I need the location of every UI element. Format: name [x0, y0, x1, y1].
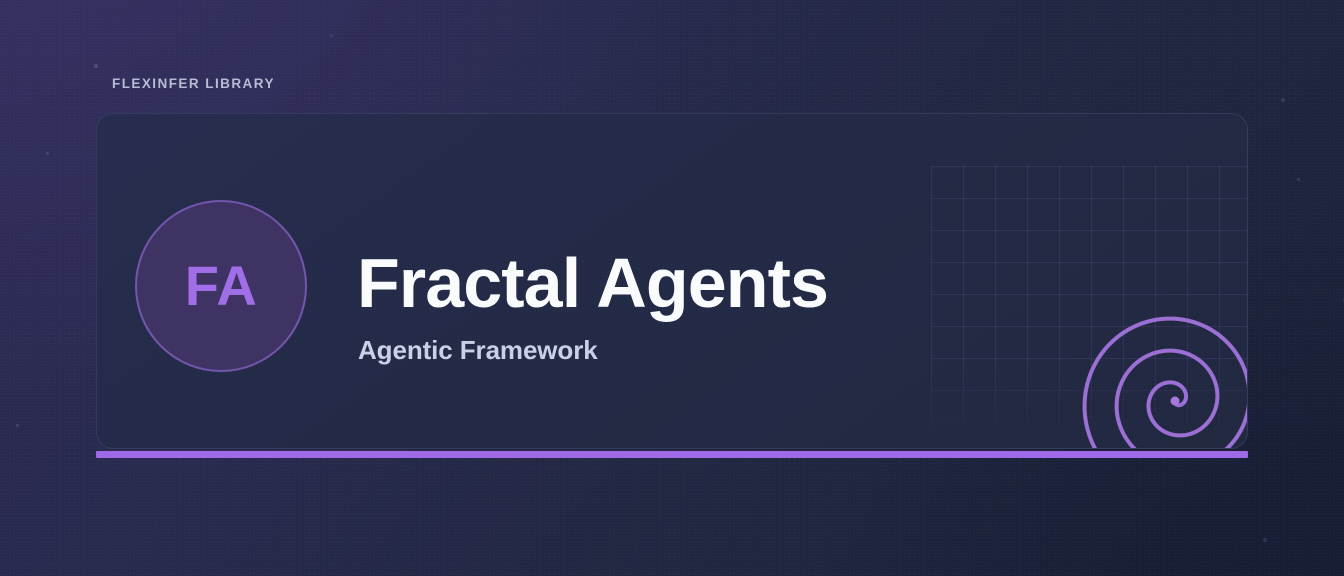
- package-hero-card: FA Fractal Agents Agentic Framework: [96, 113, 1248, 449]
- library-kicker-label: FLEXINFER LIBRARY: [112, 76, 275, 91]
- package-monogram-badge: FA: [135, 200, 307, 372]
- spiral-icon: [931, 166, 1248, 449]
- star-speck: [1263, 538, 1267, 542]
- star-speck: [330, 34, 333, 37]
- package-subtitle: Agentic Framework: [358, 337, 598, 363]
- monogram-text: FA: [185, 258, 258, 314]
- star-speck: [1297, 178, 1300, 181]
- star-speck: [46, 152, 49, 155]
- accent-underline-bar: [96, 451, 1248, 458]
- star-speck: [1281, 98, 1285, 102]
- decorative-artwork: [931, 166, 1248, 449]
- package-title: Fractal Agents: [357, 248, 828, 318]
- star-speck: [94, 64, 98, 68]
- banner-canvas: FLEXINFER LIBRARY FA Fractal Agents Agen…: [0, 0, 1344, 576]
- star-speck: [16, 424, 19, 427]
